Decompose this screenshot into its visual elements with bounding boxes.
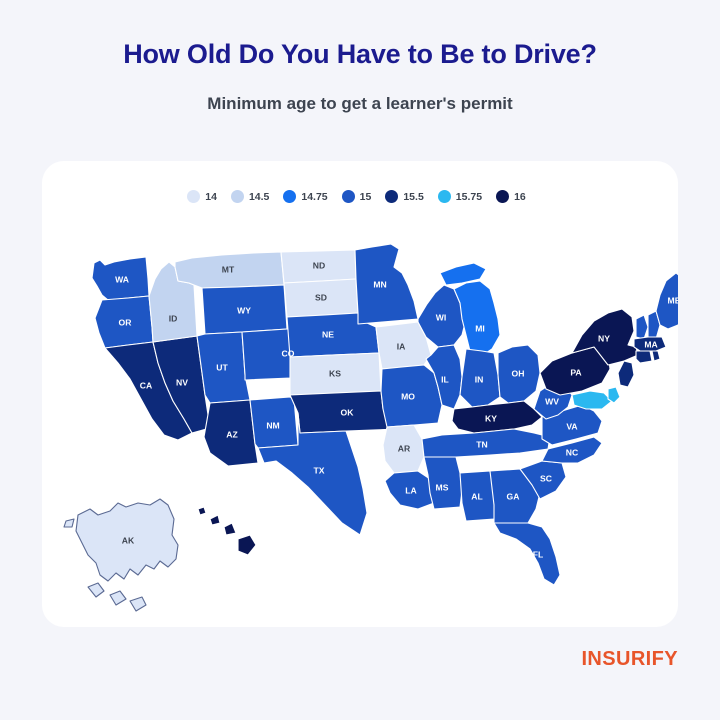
state-AK (64, 499, 178, 611)
state-label-WY: WY (237, 305, 251, 315)
legend-item-label: 14 (205, 191, 217, 203)
state-label-TN: TN (476, 439, 487, 449)
state-label-VA: VA (566, 421, 577, 431)
legend-swatch-icon (496, 190, 509, 203)
map-card: 14 14.5 14.75 15 15.5 15.75 (42, 161, 678, 627)
state-KY (452, 401, 542, 433)
state-label-MT: MT (222, 264, 235, 274)
state-label-UT: UT (216, 362, 228, 372)
map-svg: WA OR CA NV ID MT WY UT AZ CO NM ND SD N… (42, 223, 678, 623)
us-choropleth-map: WA OR CA NV ID MT WY UT AZ CO NM ND SD N… (42, 223, 678, 623)
legend-swatch-icon (283, 190, 296, 203)
infographic-page: How Old Do You Have to Be to Drive? Mini… (0, 0, 720, 720)
state-label-LA: LA (405, 485, 416, 495)
state-label-MN: MN (373, 279, 386, 289)
state-label-NV: NV (176, 377, 188, 387)
state-label-MI: MI (475, 323, 485, 333)
state-FL (494, 523, 560, 585)
legend-item-14-75: 14.75 (283, 190, 327, 203)
state-RI (652, 351, 660, 361)
state-NJ (618, 361, 634, 387)
state-label-CO: CO (282, 348, 295, 358)
state-label-TX: TX (314, 465, 325, 475)
state-label-AL: AL (471, 491, 482, 501)
state-label-ID: ID (169, 313, 178, 323)
state-label-PA: PA (570, 367, 581, 377)
legend-item-15-75: 15.75 (438, 190, 482, 203)
state-label-NE: NE (322, 329, 334, 339)
legend-item-15-5: 15.5 (385, 190, 423, 203)
legend-swatch-icon (231, 190, 244, 203)
state-label-ND: ND (313, 260, 325, 270)
state-label-OH: OH (512, 368, 525, 378)
state-label-WA: WA (115, 274, 129, 284)
insurify-logo: INSURIFY (581, 649, 678, 669)
legend-item-14-5: 14.5 (231, 190, 269, 203)
header: How Old Do You Have to Be to Drive? Mini… (0, 0, 720, 115)
state-label-ME: ME (668, 295, 678, 305)
legend-item-label: 14.5 (249, 191, 269, 203)
state-label-OR: OR (119, 317, 133, 327)
state-label-CA: CA (140, 380, 152, 390)
state-label-AR: AR (398, 443, 411, 453)
legend-swatch-icon (187, 190, 200, 203)
legend-item-16: 16 (496, 190, 526, 203)
state-label-IN: IN (475, 374, 484, 384)
state-label-NM: NM (266, 420, 279, 430)
state-MD (572, 391, 612, 409)
state-HI-2 (210, 515, 220, 525)
state-label-GA: GA (507, 491, 520, 501)
state-label-WI: WI (436, 312, 447, 322)
state-label-MO: MO (401, 391, 415, 401)
state-label-AK: AK (122, 535, 135, 545)
state-label-NY: NY (598, 333, 610, 343)
legend: 14 14.5 14.75 15 15.5 15.75 (42, 161, 678, 203)
state-label-SC: SC (540, 473, 552, 483)
legend-item-label: 15.5 (403, 191, 423, 203)
state-label-AZ: AZ (226, 429, 237, 439)
legend-item-14: 14 (187, 190, 217, 203)
page-subtitle: Minimum age to get a learner's permit (0, 93, 720, 115)
legend-item-label: 14.75 (301, 191, 327, 203)
state-label-MS: MS (436, 482, 449, 492)
state-label-FL: FL (533, 549, 544, 559)
legend-item-label: 15.75 (456, 191, 482, 203)
state-label-KY: KY (485, 413, 497, 423)
states-layer (64, 244, 678, 611)
state-label-IA: IA (397, 341, 406, 351)
state-label-OK: OK (341, 407, 355, 417)
legend-item-label: 16 (514, 191, 526, 203)
state-CT (636, 351, 652, 363)
state-label-KS: KS (329, 368, 341, 378)
state-label-SD: SD (315, 292, 327, 302)
legend-item-15: 15 (342, 190, 372, 203)
legend-item-label: 15 (360, 191, 372, 203)
page-title: How Old Do You Have to Be to Drive? (0, 38, 720, 72)
state-HI-3 (224, 523, 236, 535)
state-label-WV: WV (545, 396, 559, 406)
state-label-MA: MA (644, 339, 657, 349)
state-label-NC: NC (566, 447, 578, 457)
legend-swatch-icon (342, 190, 355, 203)
legend-swatch-icon (385, 190, 398, 203)
legend-swatch-icon (438, 190, 451, 203)
state-DE (608, 387, 620, 403)
state-HI (198, 507, 206, 515)
state-VT (636, 315, 648, 339)
state-label-IL: IL (441, 374, 449, 384)
state-HI-4 (238, 535, 256, 555)
